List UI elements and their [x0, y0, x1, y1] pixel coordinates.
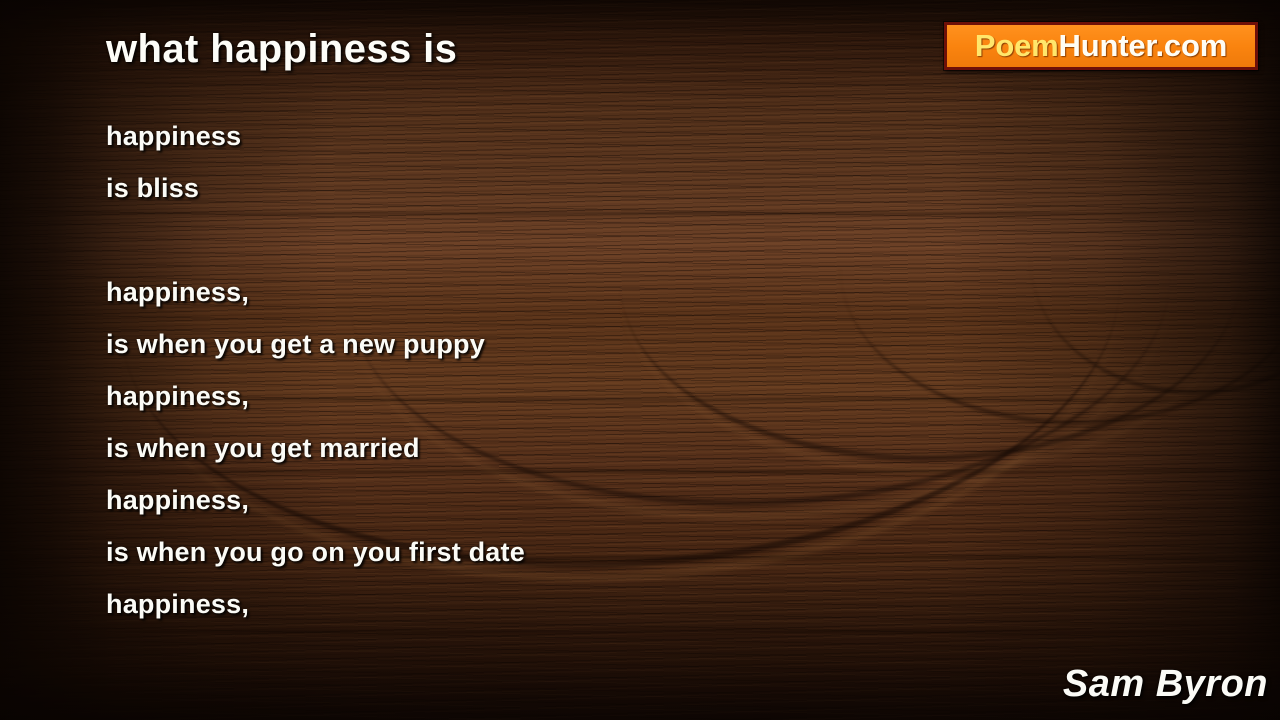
- poem-line: happiness,: [106, 266, 886, 318]
- poem-author: Sam Byron: [1063, 663, 1268, 706]
- logo-text-hunter: Hunter.com: [1059, 28, 1228, 63]
- poem-line-blank: [106, 214, 886, 266]
- poem-line: is when you go on you first date: [106, 526, 886, 578]
- poem-video-frame: what happiness is happiness is bliss hap…: [0, 0, 1280, 720]
- poem-title: what happiness is: [106, 27, 457, 72]
- poem-line: is when you get a new puppy: [106, 318, 886, 370]
- poem-content: what happiness is happiness is bliss hap…: [0, 0, 1280, 720]
- poem-line: happiness,: [106, 474, 886, 526]
- poem-line: happiness,: [106, 578, 886, 630]
- logo-text-poem: Poem: [975, 28, 1059, 63]
- poem-body: happiness is bliss happiness, is when yo…: [106, 110, 886, 630]
- poemhunter-logo-text: PoemHunter.com: [975, 30, 1227, 61]
- poem-line: happiness,: [106, 370, 886, 422]
- poemhunter-logo[interactable]: PoemHunter.com: [944, 22, 1258, 70]
- poem-line: is when you get married: [106, 422, 886, 474]
- poem-line: happiness: [106, 110, 886, 162]
- poem-line: is bliss: [106, 162, 886, 214]
